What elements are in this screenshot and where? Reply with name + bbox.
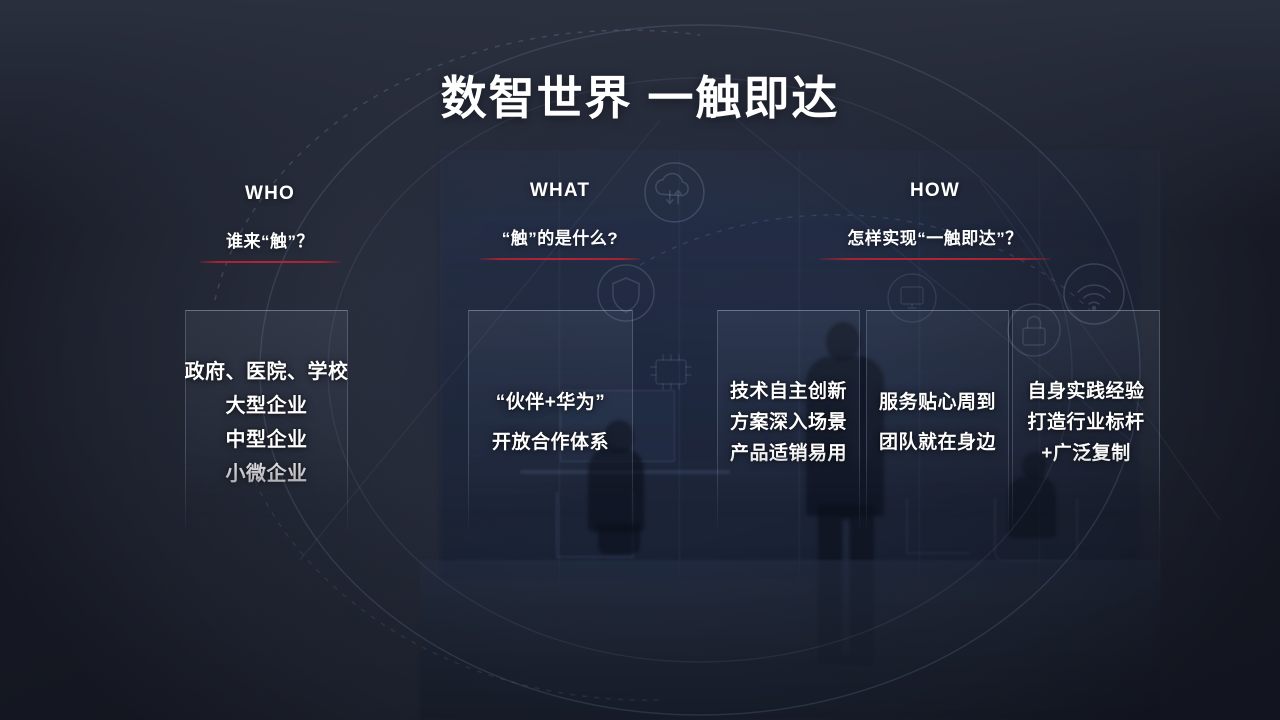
column-question-who: 谁来“触”？ (150, 227, 390, 252)
card-text-line: 打造行业标杆 (1027, 407, 1144, 438)
column-eyebrow-how: HOW (805, 180, 1065, 202)
card-text-line: 技术自主创新 (730, 376, 847, 407)
card-text-line: “伙伴+华为” (492, 383, 609, 423)
slide-canvas: 数智世界 一触即达 WHO 谁来“触”？ WHAT “触”的是什么? HOW 怎… (0, 0, 1280, 720)
room-floor (420, 560, 1160, 720)
card-text-line: 自身实践经验 (1027, 376, 1144, 407)
card-text-line: 服务贴心周到 (879, 383, 996, 423)
column-rule-how (820, 258, 1050, 260)
column-question-how: 怎样实现“一触即达”？ (805, 224, 1065, 249)
card-text-line: 小微企业 (185, 457, 349, 491)
column-heading-how: HOW 怎样实现“一触即达”？ (805, 180, 1065, 260)
column-rule-what (480, 258, 640, 260)
content-card: 技术自主创新方案深入场景产品适销易用 (717, 310, 860, 535)
card-text-line: 政府、医院、学校 (185, 355, 349, 389)
card-text-block: “伙伴+华为”开放合作体系 (492, 383, 609, 463)
card-text-block: 政府、医院、学校大型企业中型企业小微企业 (185, 355, 349, 491)
column-heading-who: WHO 谁来“触”？ (150, 183, 390, 263)
card-text-line: 产品适销易用 (730, 438, 847, 469)
card-text-block: 服务贴心周到团队就在身边 (879, 383, 996, 463)
card-text-line: +广泛复制 (1027, 438, 1144, 469)
page-title: 数智世界 一触即达 (0, 62, 1280, 128)
card-text-line: 大型企业 (185, 389, 349, 423)
column-eyebrow-who: WHO (150, 183, 390, 205)
card-text-line: 中型企业 (185, 423, 349, 457)
content-card: “伙伴+华为”开放合作体系 (468, 310, 633, 535)
card-text-block: 自身实践经验打造行业标杆+广泛复制 (1027, 376, 1144, 469)
column-heading-what: WHAT “触”的是什么? (440, 180, 680, 260)
chip-icon (651, 355, 691, 389)
person-silhouette-gap (843, 520, 849, 655)
card-text-line: 开放合作体系 (492, 423, 609, 463)
card-text-block: 技术自主创新方案深入场景产品适销易用 (730, 376, 847, 469)
column-question-what: “触”的是什么? (440, 224, 680, 249)
content-card: 政府、医院、学校大型企业中型企业小微企业 (185, 310, 348, 535)
card-text-line: 方案深入场景 (730, 407, 847, 438)
card-text-line: 团队就在身边 (879, 423, 996, 463)
content-card: 服务贴心周到团队就在身边 (866, 310, 1009, 535)
content-card: 自身实践经验打造行业标杆+广泛复制 (1012, 310, 1160, 535)
column-eyebrow-what: WHAT (440, 180, 680, 202)
column-rule-who (200, 261, 340, 263)
